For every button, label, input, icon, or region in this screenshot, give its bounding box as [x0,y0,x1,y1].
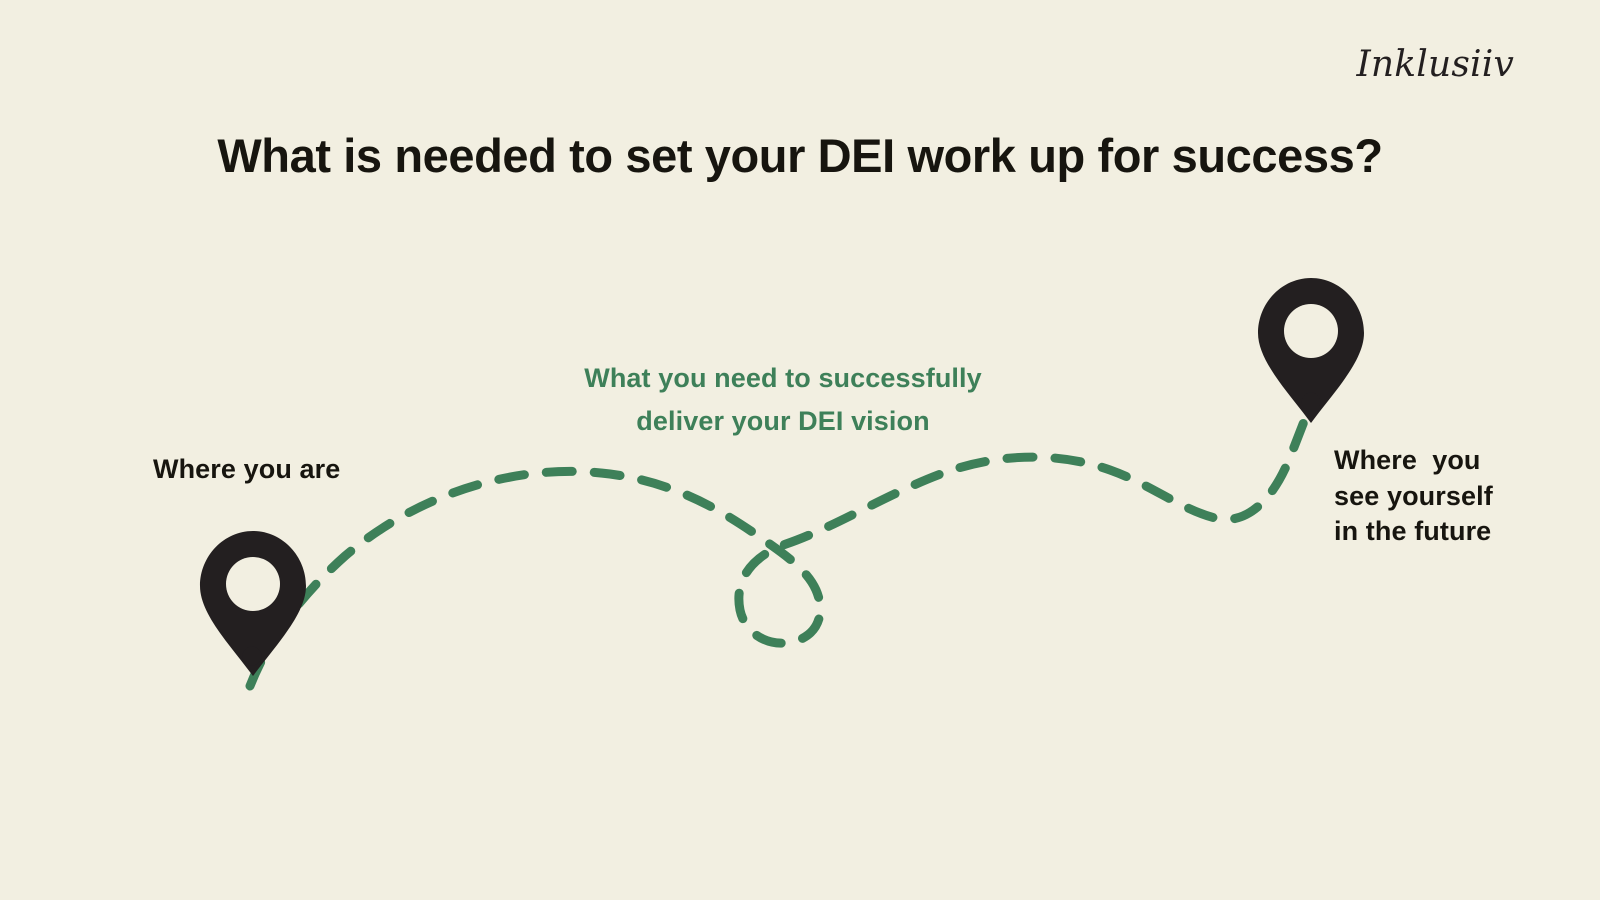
map-pin-start-hole [226,557,280,611]
label-what-you-need-line-2: deliver your DEI vision [483,400,1083,443]
label-where-you-see-yourself-line-2: see yourself [1334,479,1584,515]
label-where-you-are: Where you are [153,452,340,488]
slide-canvas: Inklusiiv What is needed to set your DEI… [0,0,1600,900]
map-pin-end [1258,278,1364,423]
label-where-you-see-yourself-line-3: in the future [1334,514,1584,550]
dashed-journey-path [250,404,1311,686]
map-pin-end-hole [1284,304,1338,358]
label-where-you-see-yourself: Where you see yourself in the future [1334,443,1584,550]
map-pin-start [200,531,306,676]
label-what-you-need-line-1: What you need to successfully [483,357,1083,400]
map-pin-start-dot [243,647,262,666]
map-pin-end-dot [1302,393,1321,412]
label-where-you-see-yourself-line-1: Where you [1334,443,1584,479]
label-what-you-need: What you need to successfully deliver yo… [483,357,1083,442]
